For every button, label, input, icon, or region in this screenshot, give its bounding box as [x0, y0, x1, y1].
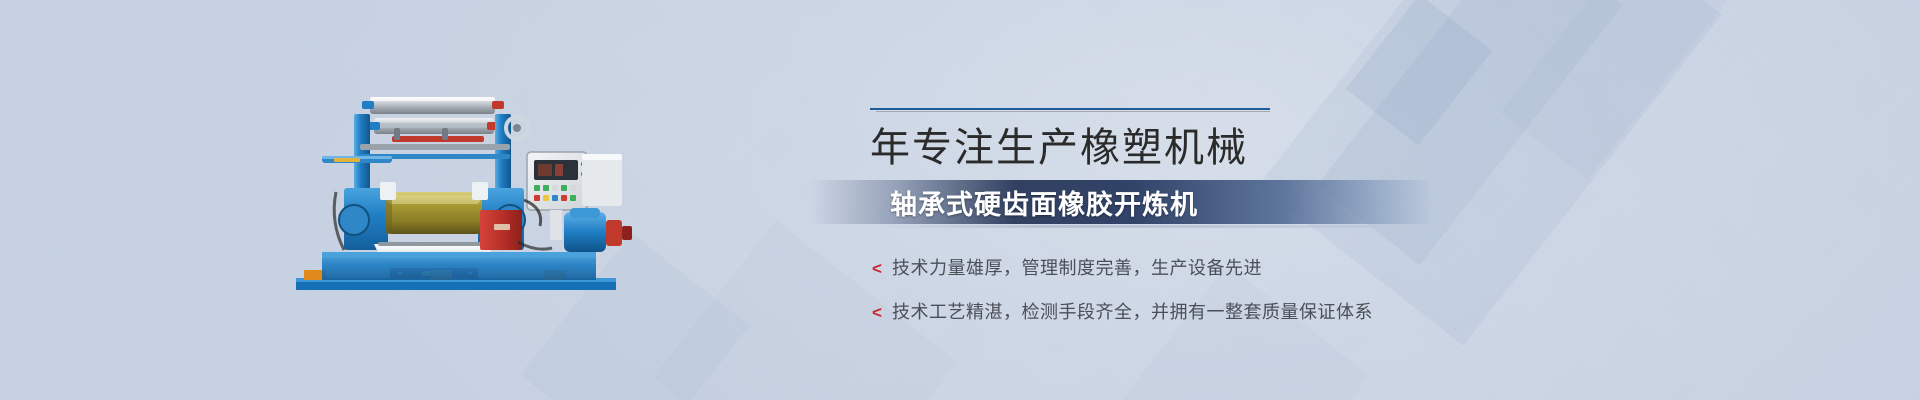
feature-text: 技术力量雄厚，管理制度完善，生产设备先进 [892, 254, 1262, 280]
frame-post-left [354, 114, 370, 192]
subtitle-bar: 轴承式硬齿面橡胶开炼机 [810, 180, 1430, 224]
feature-text: 技术工艺精湛，检测手段齐全，并拥有一整套质量保证体系 [892, 298, 1373, 324]
divider-line-blue [870, 108, 1270, 110]
banner-copy: 年专注生产橡塑机械 轴承式硬齿面橡胶开炼机 < 技术力量雄厚，管理制度完善，生产… [860, 108, 1560, 342]
top-roller-assembly [362, 97, 504, 142]
frame-post-right [495, 114, 511, 192]
bearing-cap-left [339, 205, 369, 235]
chevron-left-icon: < [872, 259, 892, 279]
chevron-left-icon: < [872, 303, 892, 323]
divider-line-grey [876, 111, 1270, 112]
page-title: 年专注生产橡塑机械 [870, 125, 1560, 172]
list-item: < 技术力量雄厚，管理制度完善，生产设备先进 [872, 254, 1560, 280]
list-item: < 技术工艺精湛，检测手段齐全，并拥有一整套质量保证体系 [872, 298, 1560, 324]
promo-banner: 年专注生产橡塑机械 轴承式硬齿面橡胶开炼机 < 技术力量雄厚，管理制度完善，生产… [0, 0, 1920, 400]
product-subtitle: 轴承式硬齿面橡胶开炼机 [890, 183, 1198, 222]
headline-divider [870, 108, 1270, 113]
feature-list: < 技术力量雄厚，管理制度完善，生产设备先进 < 技术工艺精湛，检测手段齐全，并… [872, 254, 1560, 324]
product-image [282, 92, 632, 292]
